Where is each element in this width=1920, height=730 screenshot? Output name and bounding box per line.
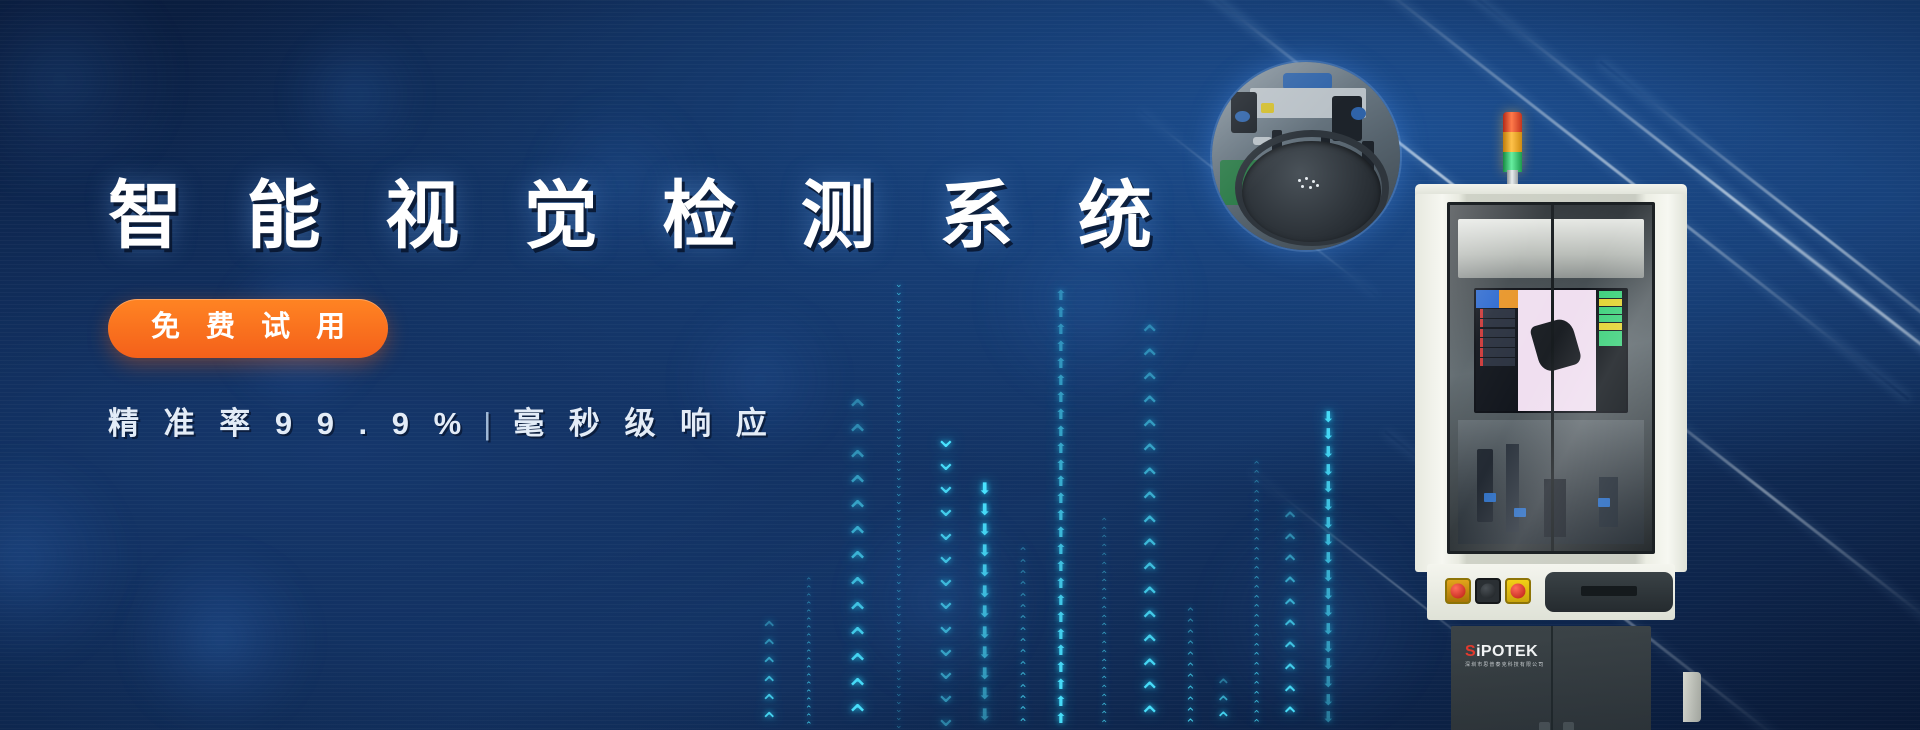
arrow-glyph: ⬇: [1322, 447, 1335, 459]
light-streak: [1699, 170, 1920, 467]
arrow-glyph: ⬆: [1055, 358, 1067, 369]
inset-gloss: [1212, 62, 1400, 250]
door-handle-left[interactable]: [1539, 722, 1550, 730]
arrow-column: ⌃⌃⌃⌃⌃⌃⌃⌃⌃⌃⌃⌃⌃: [845, 400, 870, 730]
stats-line: 精 准 率 9 9 . 9 %|毫 秒 级 响 应: [108, 398, 1008, 443]
stats-separator: |: [469, 406, 513, 441]
arrow-column: ⌃⌃⌃⌃⌃⌃⌃⌃⌃⌃⌃: [1185, 610, 1196, 730]
arrow-glyph: ⬆: [1055, 612, 1067, 623]
arrow-column: ⌃⌃⌃⌃⌃⌃⌃⌃⌃⌃⌃⌃⌃⌃⌃⌃⌃: [1138, 340, 1161, 730]
indicator-button[interactable]: [1475, 578, 1501, 604]
arrow-glyph: ⬆: [1055, 341, 1067, 352]
arrow-glyph: ⬆: [1055, 713, 1067, 724]
arrow-glyph: ⬇: [978, 607, 991, 619]
arrow-glyph: ⬇: [1322, 606, 1335, 618]
arrow-glyph: ⬇: [1322, 642, 1335, 654]
arrow-glyph: ⬆: [1055, 578, 1067, 589]
company-name-cn: 深圳市思普泰克科技有限公司: [1465, 663, 1544, 668]
arrow-glyph: ⬇: [1322, 571, 1335, 583]
arrow-glyph: ⬆: [1055, 493, 1067, 504]
arrow-glyph: ⌃: [1280, 513, 1300, 532]
arrow-glyph: ⬇: [1322, 712, 1335, 724]
latency-stat: 毫 秒 级 响 应: [513, 406, 774, 441]
button-knob: [1481, 584, 1496, 599]
arrow-glyph: ⬆: [1055, 527, 1067, 538]
headline-copy-block: 智 能 视 觉 检 测 系 统 免 费 试 用 精 准 率 9 9 . 9 %|…: [108, 178, 1008, 443]
arrow-glyph: ⌃: [1215, 713, 1232, 729]
arrow-column: ⌃⌃⌃⌃⌃⌃⌃⌃⌃⌃⌃⌃⌃⌃⌃⌃⌃⌃⌃⌃⌃⌃⌃⌃: [1100, 530, 1108, 730]
arrow-glyph: ⬇: [978, 525, 991, 537]
arrow-glyph: ⬆: [1055, 409, 1067, 420]
arrow-column: ⬇⬇⬇⬇⬇⬇⬇⬇⬇⬇⬇⬇: [978, 480, 991, 730]
arrow-glyph: ⬇: [1322, 429, 1335, 441]
arrow-glyph: ⬇: [978, 689, 991, 701]
arrow-glyph: ⬇: [978, 587, 991, 599]
arrow-glyph: ⬆: [1055, 544, 1067, 555]
glow-blob: [285, 25, 425, 165]
arrow-glyph: ⬆: [1055, 307, 1067, 318]
arrow-glyph: ⬇: [1322, 677, 1335, 689]
arrow-glyph: ⬆: [1055, 679, 1067, 690]
arrow-glyph: ⬇: [978, 669, 991, 681]
tower-light-green: [1503, 152, 1522, 172]
arrow-glyph: ⬇: [1322, 465, 1335, 477]
arrow-glyph: ⌃: [1215, 697, 1232, 713]
door-split-line: [1551, 626, 1553, 730]
arrow-glyph: ⬇: [978, 484, 991, 496]
arrow-glyph: ⌃: [1280, 687, 1300, 706]
arrow-glyph: ⌄: [935, 707, 957, 727]
free-trial-button[interactable]: 免 费 试 用: [108, 299, 388, 358]
selector-switch[interactable]: [1445, 578, 1471, 604]
arrow-glyph: ⬇: [1322, 518, 1335, 530]
arrow-glyph: ⌃: [1018, 707, 1028, 716]
accuracy-stat: 精 准 率 9 9 . 9 %: [108, 406, 469, 441]
arrow-glyph: ⬇: [1322, 535, 1335, 547]
arrow-glyph: ⌃: [760, 694, 778, 711]
brand-logo: SiPOTEK 深圳市思普泰克科技有限公司: [1465, 644, 1544, 668]
arrow-glyph: ⌄: [935, 497, 957, 517]
arrow-glyph: ⬇: [978, 648, 991, 660]
door-handle-right[interactable]: [1563, 722, 1574, 730]
arrow-glyph: ⌄: [935, 683, 957, 703]
promo-banner: ⌃⌃⌃⌃⌃⌃⌃⌃⌃⌃⌃⌃⌃⌃⌃⌃⌃⌃⌃⌃⌃⌃⌃⌃⌃⌃⌃⌃⌃⌃⌃⌃⌃⌃⌃⌃⌃⌃⌄⌄…: [0, 0, 1920, 730]
arrow-glyph: ⬇: [978, 710, 991, 722]
arrow-glyph: ⬆: [1055, 324, 1067, 335]
arrow-glyph: ⬆: [1055, 595, 1067, 606]
tower-light-amber: [1503, 132, 1522, 152]
brand-initial: S: [1465, 643, 1476, 660]
arrow-column: ⌃⌃⌃⌃⌃⌃⌃⌃⌃⌃⌃⌃⌃⌃⌃⌃⌃⌃⌃⌃⌃⌃⌃⌃⌃⌃⌃⌃: [1252, 480, 1261, 730]
glow-blob: [0, 0, 180, 200]
hmi-screen: [1581, 586, 1637, 596]
arrow-glyph: ⬆: [1055, 645, 1067, 656]
arrow-glyph: ⌃: [1100, 712, 1108, 720]
arrow-glyph: ⌄: [935, 590, 957, 610]
lower-cabinet-doors[interactable]: SiPOTEK 深圳市思普泰克科技有限公司: [1451, 626, 1651, 730]
arrow-glyph: ⌄: [935, 521, 957, 541]
estop-knob: [1511, 584, 1526, 599]
arrow-glyph: ⌃: [1252, 720, 1261, 729]
arrow-glyph: ⬇: [978, 546, 991, 558]
inset-photo-inspection-module: [1212, 62, 1400, 250]
arrow-glyph: ⬆: [1055, 662, 1067, 673]
glass-reflection: [1450, 205, 1652, 551]
arrow-glyph: ⌃: [1185, 719, 1196, 729]
arrow-glyph: ⌃: [1252, 711, 1261, 720]
arrow-glyph: ⬇: [978, 628, 991, 640]
arrow-glyph: ⬆: [1055, 510, 1067, 521]
arrow-glyph: ⌃: [1185, 708, 1196, 718]
arrow-glyph: ⬆: [1055, 375, 1067, 386]
arrow-glyph: ⬇: [1322, 553, 1335, 565]
arrow-glyph: ⬆: [1055, 443, 1067, 454]
tower-light-red: [1503, 112, 1522, 132]
arrow-glyph: ⌃: [845, 705, 870, 728]
arrow-glyph: ⌃: [1280, 578, 1300, 597]
arrow-glyph: ⬇: [1322, 412, 1335, 424]
brand-wordmark: SiPOTEK: [1465, 644, 1544, 660]
page-title: 智 能 视 觉 检 测 系 统: [108, 178, 1008, 255]
arrow-column: ⬇⬇⬇⬇⬇⬇⬇⬇⬇⬇⬇⬇⬇⬇⬇⬇⬇⬇: [1322, 420, 1335, 730]
arrow-glyph: ⬆: [1055, 629, 1067, 640]
arrow-column: ⌃⌃⌃⌃⌃⌃: [760, 615, 778, 730]
brand-rest: iPOTEK: [1476, 643, 1538, 660]
arrow-glyph: ⬇: [1322, 659, 1335, 671]
arrow-glyph: ⬆: [1055, 290, 1067, 301]
arrow-glyph: ⌃: [1138, 682, 1161, 704]
arrow-glyph: ⬆: [1055, 476, 1067, 487]
arrow-glyph: ⬇: [1322, 624, 1335, 636]
arrow-glyph: ⌃: [805, 714, 813, 721]
arrow-glyph: ⬇: [978, 566, 991, 578]
arrow-glyph: ⬇: [1322, 589, 1335, 601]
arrow-glyph: ⌃: [1280, 665, 1300, 684]
arrow-column: ⬆⬆⬆⬆⬆⬆⬆⬆⬆⬆⬆⬆⬆⬆⬆⬆⬆⬆⬆⬆⬆⬆⬆⬆⬆⬆: [1055, 305, 1067, 730]
hmi-display-housing[interactable]: [1545, 572, 1673, 612]
side-bracket: [1683, 672, 1701, 722]
arrow-glyph: ⬇: [978, 505, 991, 517]
arrow-column: ⌃⌃⌃⌃⌃⌃⌃⌃⌃⌃: [1280, 525, 1300, 730]
arrow-glyph: ⬆: [1055, 460, 1067, 471]
arrow-glyph: ⌃: [1100, 721, 1108, 729]
glow-blob: [125, 545, 315, 730]
arrow-glyph: ⬆: [1055, 696, 1067, 707]
arrow-glyph: ⌄: [935, 614, 957, 634]
arrow-glyph: ⌃: [1280, 708, 1300, 727]
glass-enclosure: [1447, 202, 1655, 554]
arrow-glyph: ⬇: [1322, 695, 1335, 707]
arrow-column: ⌄⌄⌄⌄⌄⌄⌄⌄⌄⌄⌄⌄⌄: [935, 440, 957, 730]
arrow-column: ⌃⌃⌃: [1215, 670, 1232, 730]
arrow-glyph: ⬆: [1055, 392, 1067, 403]
arrow-glyph: ⌃: [1018, 719, 1028, 728]
vision-inspection-machine: SiPOTEK 深圳市思普泰克科技有限公司: [1395, 112, 1715, 712]
arrow-column: ⌃⌃⌃⌃⌃⌃⌃⌃⌃⌃⌃⌃⌃⌃⌃⌃⌃⌃⌃: [805, 585, 813, 730]
arrow-glyph: ⬇: [1322, 500, 1335, 512]
emergency-stop-button[interactable]: [1505, 578, 1531, 604]
arrow-glyph: ⌃: [845, 679, 870, 702]
tower-light: [1503, 112, 1522, 172]
glow-blob: [0, 450, 130, 670]
arrow-glyph: ⬆: [1055, 561, 1067, 572]
arrow-column: ⌃⌃⌃⌃⌃⌃⌃⌃⌃⌃⌃⌃⌃⌃⌃⌃: [1018, 555, 1028, 730]
arrow-glyph: ⌃: [1138, 706, 1161, 728]
arrow-glyph: ⬇: [1322, 482, 1335, 494]
arrow-glyph: ⌄: [895, 722, 903, 729]
arrow-glyph: ⬆: [1055, 426, 1067, 437]
switch-knob: [1451, 584, 1466, 599]
arrow-glyph: ⌃: [805, 722, 813, 729]
